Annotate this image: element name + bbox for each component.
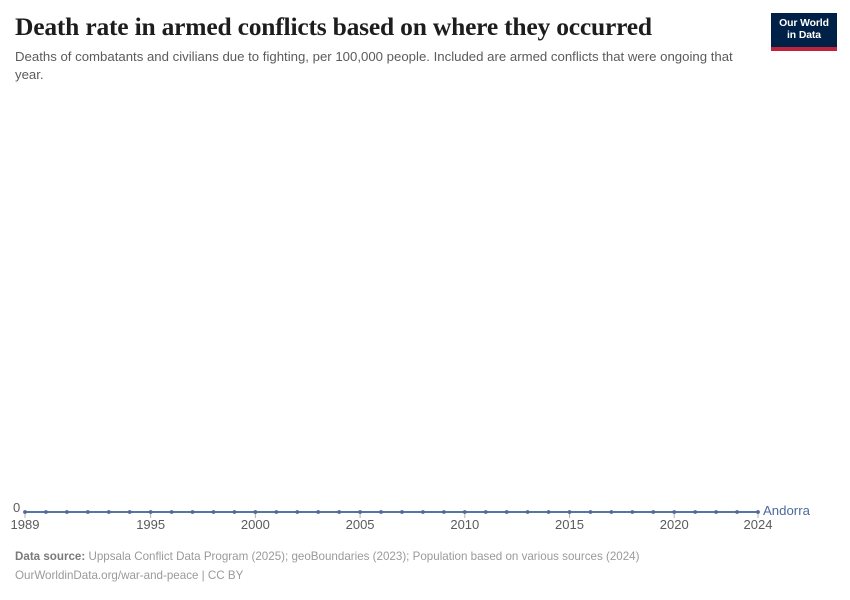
series-endpoint-label[interactable]: Andorra (763, 503, 810, 518)
data-point[interactable] (44, 510, 48, 514)
data-point[interactable] (295, 510, 299, 514)
data-point[interactable] (463, 510, 467, 514)
data-point[interactable] (23, 510, 27, 514)
data-point[interactable] (484, 510, 488, 514)
x-axis-label: 1995 (136, 517, 165, 532)
data-point[interactable] (107, 510, 111, 514)
data-point[interactable] (149, 510, 153, 514)
data-point[interactable] (253, 510, 257, 514)
y-axis-zero-label: 0 (13, 500, 20, 515)
data-point[interactable] (128, 510, 132, 514)
chart-header: Death rate in armed conflicts based on w… (15, 12, 755, 84)
data-point[interactable] (86, 510, 90, 514)
data-point[interactable] (735, 510, 739, 514)
our-world-in-data-logo[interactable]: Our World in Data (771, 13, 837, 51)
chart-footer: Data source: Uppsala Conflict Data Progr… (15, 548, 815, 586)
data-point[interactable] (651, 510, 655, 514)
data-point[interactable] (170, 510, 174, 514)
data-point[interactable] (233, 510, 237, 514)
data-point[interactable] (589, 510, 593, 514)
footer-source-label: Data source: (15, 550, 85, 563)
page-title: Death rate in armed conflicts based on w… (15, 12, 755, 41)
data-point[interactable] (568, 510, 572, 514)
data-point[interactable] (610, 510, 614, 514)
line-chart-svg (0, 100, 850, 520)
data-point[interactable] (337, 510, 341, 514)
data-point[interactable] (358, 510, 362, 514)
data-point[interactable] (756, 510, 760, 514)
data-point[interactable] (379, 510, 383, 514)
footer-source-line: Data source: Uppsala Conflict Data Progr… (15, 548, 815, 567)
data-point[interactable] (400, 510, 404, 514)
footer-source-text: Uppsala Conflict Data Program (2025); ge… (88, 550, 639, 563)
data-point[interactable] (316, 510, 320, 514)
data-point[interactable] (547, 510, 551, 514)
chart-subtitle: Deaths of combatants and civilians due t… (15, 48, 745, 84)
x-axis-label: 2000 (241, 517, 270, 532)
data-point[interactable] (442, 510, 446, 514)
data-point[interactable] (505, 510, 509, 514)
x-axis-label: 1989 (11, 517, 40, 532)
logo-line-1: Our World (779, 18, 829, 30)
data-point[interactable] (714, 510, 718, 514)
data-point[interactable] (274, 510, 278, 514)
data-point[interactable] (693, 510, 697, 514)
footer-license-line[interactable]: OurWorldinData.org/war-and-peace | CC BY (15, 567, 815, 586)
x-axis-label: 2005 (346, 517, 375, 532)
data-point[interactable] (212, 510, 216, 514)
x-axis-tick-marks (25, 513, 758, 518)
data-point[interactable] (526, 510, 530, 514)
data-point[interactable] (191, 510, 195, 514)
logo-line-2: in Data (787, 30, 821, 42)
data-point[interactable] (65, 510, 69, 514)
data-point[interactable] (630, 510, 634, 514)
x-axis-label: 2020 (660, 517, 689, 532)
x-axis-label: 2024 (744, 517, 773, 532)
chart-plot-area[interactable] (0, 100, 850, 520)
data-point[interactable] (421, 510, 425, 514)
x-axis-label: 2015 (555, 517, 584, 532)
data-point[interactable] (672, 510, 676, 514)
x-axis-label: 2010 (450, 517, 479, 532)
